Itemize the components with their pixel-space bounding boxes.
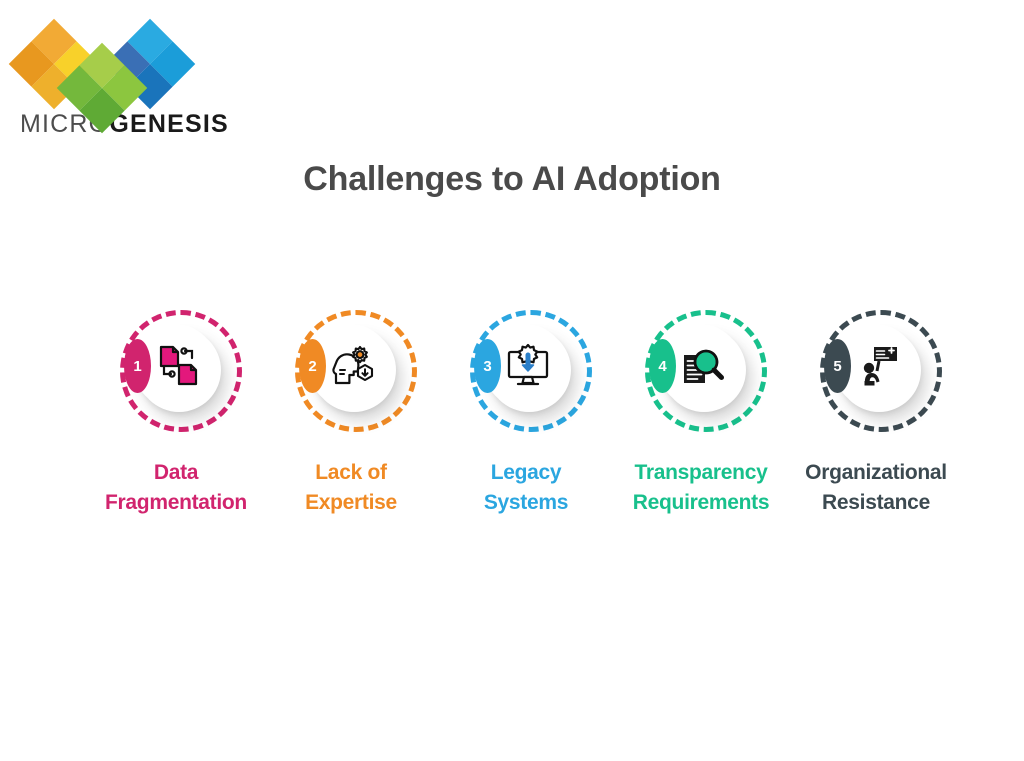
number-badge-label: 2 [308, 359, 316, 374]
number-badge: 3 [474, 339, 501, 393]
challenge-badge-5: 5 [806, 300, 946, 440]
number-badge: 2 [299, 339, 326, 393]
monitor-gear-download-icon [504, 342, 552, 390]
challenge-label-4: Transparency Requirements [633, 458, 769, 518]
number-badge-label: 4 [658, 359, 666, 374]
person-protest-sign-icon [854, 342, 902, 390]
challenge-label-2: Lack of Expertise [305, 458, 397, 518]
challenge-label-3: Legacy Systems [484, 458, 568, 518]
challenge-card-2[interactable]: 2 Lack of Expertise [271, 300, 431, 518]
challenge-card-5[interactable]: 5 Organizational Resistance [796, 300, 956, 518]
challenges-row: 1 Data Fragmentation [96, 300, 956, 518]
microgenesis-diamonds-logo [18, 14, 193, 106]
page-title: Challenges to AI Adoption [0, 160, 1024, 199]
challenge-card-3[interactable]: 3 Legacy Systems [446, 300, 606, 518]
challenge-badge-1: 1 [106, 300, 246, 440]
brand-wordmark-bold: GENESIS [109, 110, 229, 138]
number-badge-label: 5 [833, 359, 841, 374]
challenge-card-4[interactable]: 4 Transparency Requirements [621, 300, 781, 518]
document-magnifier-icon [679, 342, 727, 390]
challenge-label-1: Data Fragmentation [105, 458, 247, 518]
challenge-badge-4: 4 [631, 300, 771, 440]
brand-logo: MICROGENESIS [18, 14, 208, 134]
head-gear-expertise-icon [329, 342, 377, 390]
data-fragmentation-icon [154, 342, 202, 390]
number-badge: 1 [124, 339, 151, 393]
number-badge-label: 1 [133, 359, 141, 374]
number-badge: 4 [649, 339, 676, 393]
number-badge-label: 3 [483, 359, 491, 374]
challenge-label-5: Organizational Resistance [805, 458, 947, 518]
number-badge: 5 [824, 339, 851, 393]
brand-wordmark: MICROGENESIS [20, 110, 229, 139]
challenge-badge-2: 2 [281, 300, 421, 440]
challenge-card-1[interactable]: 1 Data Fragmentation [96, 300, 256, 518]
challenge-badge-3: 3 [456, 300, 596, 440]
